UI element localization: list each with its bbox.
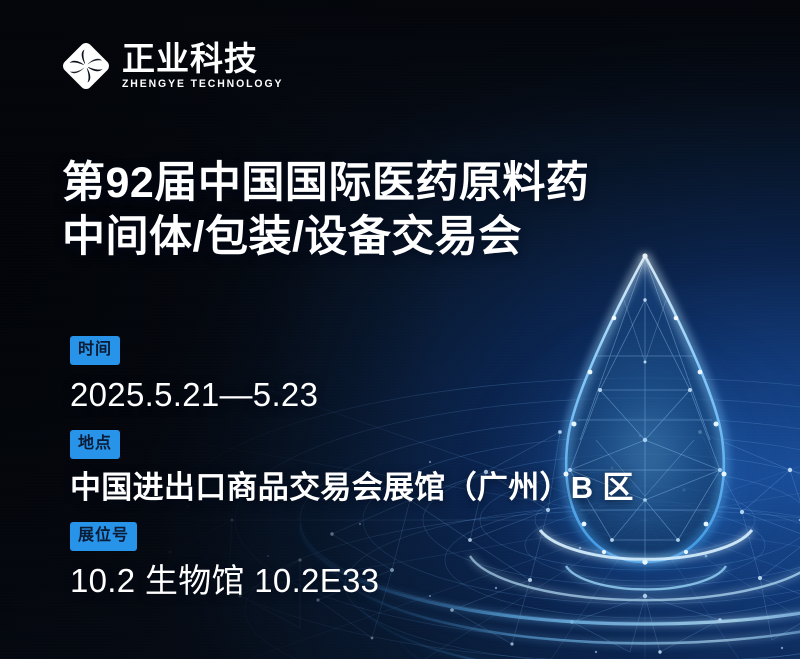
title-line-2: 中间体/包装/设备交易会 <box>62 210 702 264</box>
info-block-time: 时间 2025.5.21—5.23 <box>70 336 710 414</box>
title-line-1: 第92届中国国际医药原料药 <box>62 156 702 210</box>
company-logo[interactable]: 正业科技 ZHENGYE TECHNOLOGY <box>60 40 292 92</box>
logo-name-cn: 正业科技 <box>122 42 292 76</box>
exhibition-banner: 正业科技 ZHENGYE TECHNOLOGY 第92届中国国际医药原料药 中间… <box>0 0 800 659</box>
page-title: 第92届中国国际医药原料药 中间体/包装/设备交易会 <box>62 156 702 264</box>
zhengye-swirl-diamond-icon <box>60 40 112 92</box>
logo-name-en: ZHENGYE TECHNOLOGY <box>122 78 283 90</box>
info-block-venue: 地点 中国进出口商品交易会展馆（广州）B 区 <box>70 430 710 506</box>
badge-venue: 地点 <box>70 430 120 459</box>
badge-booth: 展位号 <box>70 522 137 551</box>
info-block-booth: 展位号 10.2 生物馆 10.2E33 <box>70 522 710 600</box>
badge-time: 时间 <box>70 336 120 365</box>
event-info: 时间 2025.5.21—5.23 地点 中国进出口商品交易会展馆（广州）B 区… <box>70 336 710 600</box>
event-date-value: 2025.5.21—5.23 <box>70 376 710 414</box>
event-venue-value: 中国进出口商品交易会展馆（广州）B 区 <box>70 470 710 506</box>
event-booth-value: 10.2 生物馆 10.2E33 <box>70 562 710 600</box>
